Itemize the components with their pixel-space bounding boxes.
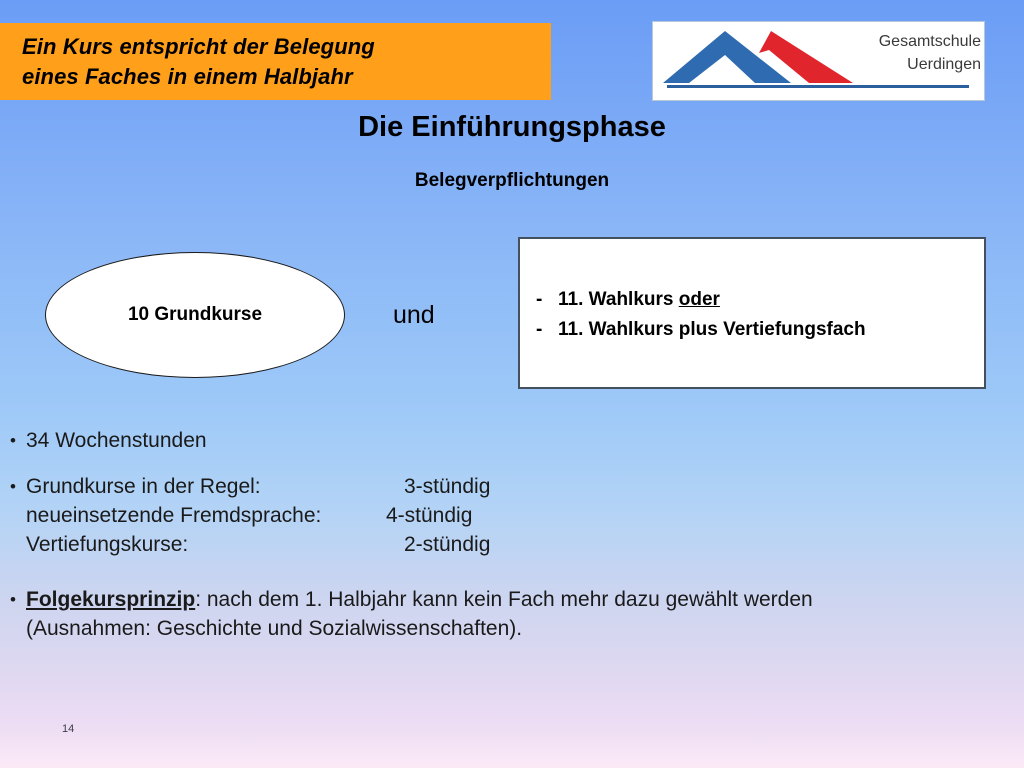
logo-wordmark-line-2: Uerdingen — [861, 53, 981, 76]
banner-line-2: eines Faches in einem Halbjahr — [22, 62, 551, 92]
logo-wordmark: Gesamtschule Uerdingen — [861, 30, 981, 76]
bullet-item-stundenumfang: • Grundkurse in der Regel: 3-stündig neu… — [10, 472, 1014, 559]
bullet-dot-icon: • — [10, 585, 26, 614]
grundkurse-ellipse-label: 10 Grundkurse — [128, 304, 262, 326]
logo-wordmark-line-1: Gesamtschule — [861, 30, 981, 53]
wahlkurs-option-box: - 11. Wahlkurs oder - 11. Wahlkurs plus … — [518, 237, 986, 389]
bullet-text: Grundkurse in der Regel: 3-stündig neuei… — [26, 472, 1014, 559]
course-hours-row: Grundkurse in der Regel: 3-stündig — [26, 472, 1014, 501]
bullet-dot-icon: • — [10, 472, 26, 501]
option-text-underlined: oder — [679, 289, 720, 310]
mountain-roof-icon — [663, 28, 853, 86]
option-row: - 11. Wahlkurs oder — [536, 285, 984, 315]
course-hours-row: neueinsetzende Fremdsprache: 4-stündig — [26, 501, 1014, 530]
bullet-dot-icon: • — [10, 426, 26, 455]
slide-title: Die Einführungsphase — [0, 111, 1024, 144]
course-hours-value: 2-stündig — [386, 530, 490, 559]
page-number: 14 — [62, 723, 74, 735]
option-text-plain: 11. Wahlkurs — [558, 289, 679, 310]
spacer — [10, 455, 1014, 472]
spacer — [10, 559, 1014, 585]
option-text: 11. Wahlkurs oder — [558, 285, 720, 315]
grundkurse-ellipse: 10 Grundkurse — [45, 252, 345, 378]
option-dash-icon: - — [536, 285, 558, 315]
folgekursprinzip-rest: : nach dem 1. Halbjahr kann kein Fach me… — [195, 588, 813, 611]
option-row: - 11. Wahlkurs plus Vertiefungsfach — [536, 315, 984, 345]
slide-subtitle: Belegverpflichtungen — [0, 170, 1024, 192]
bullet-item-folgekursprinzip: • Folgekursprinzip: nach dem 1. Halbjahr… — [10, 585, 1014, 643]
course-hours-value: 4-stündig — [386, 501, 472, 530]
banner-line-1: Ein Kurs entspricht der Belegung — [22, 32, 551, 62]
course-hours-value: 3-stündig — [386, 472, 490, 501]
course-type-label: Vertiefungskurse: — [26, 530, 386, 559]
option-dash-icon: - — [536, 315, 558, 345]
highlight-banner: Ein Kurs entspricht der Belegung eines F… — [0, 23, 551, 100]
bullet-item-wochenstunden: • 34 Wochenstunden — [10, 426, 1014, 455]
folgekursprinzip-term: Folgekursprinzip — [26, 588, 195, 611]
course-type-label: neueinsetzende Fremdsprache: — [26, 501, 386, 530]
conjunction-label: und — [393, 301, 435, 330]
option-text-plain: 11. Wahlkurs plus Vertiefungsfach — [558, 319, 866, 340]
folgekursprinzip-line-2: (Ausnahmen: Geschichte und Sozialwissens… — [26, 614, 1014, 643]
course-hours-row: Vertiefungskurse: 2-stündig — [26, 530, 1014, 559]
bullet-list: • 34 Wochenstunden • Grundkurse in der R… — [10, 426, 1014, 643]
bullet-text: Folgekursprinzip: nach dem 1. Halbjahr k… — [26, 585, 1014, 643]
school-logo: Gesamtschule Uerdingen — [652, 21, 985, 101]
logo-divider — [667, 85, 969, 88]
bullet-text: 34 Wochenstunden — [26, 426, 1014, 455]
course-type-label: Grundkurse in der Regel: — [26, 472, 386, 501]
slide: Ein Kurs entspricht der Belegung eines F… — [0, 0, 1024, 768]
option-text: 11. Wahlkurs plus Vertiefungsfach — [558, 315, 866, 345]
